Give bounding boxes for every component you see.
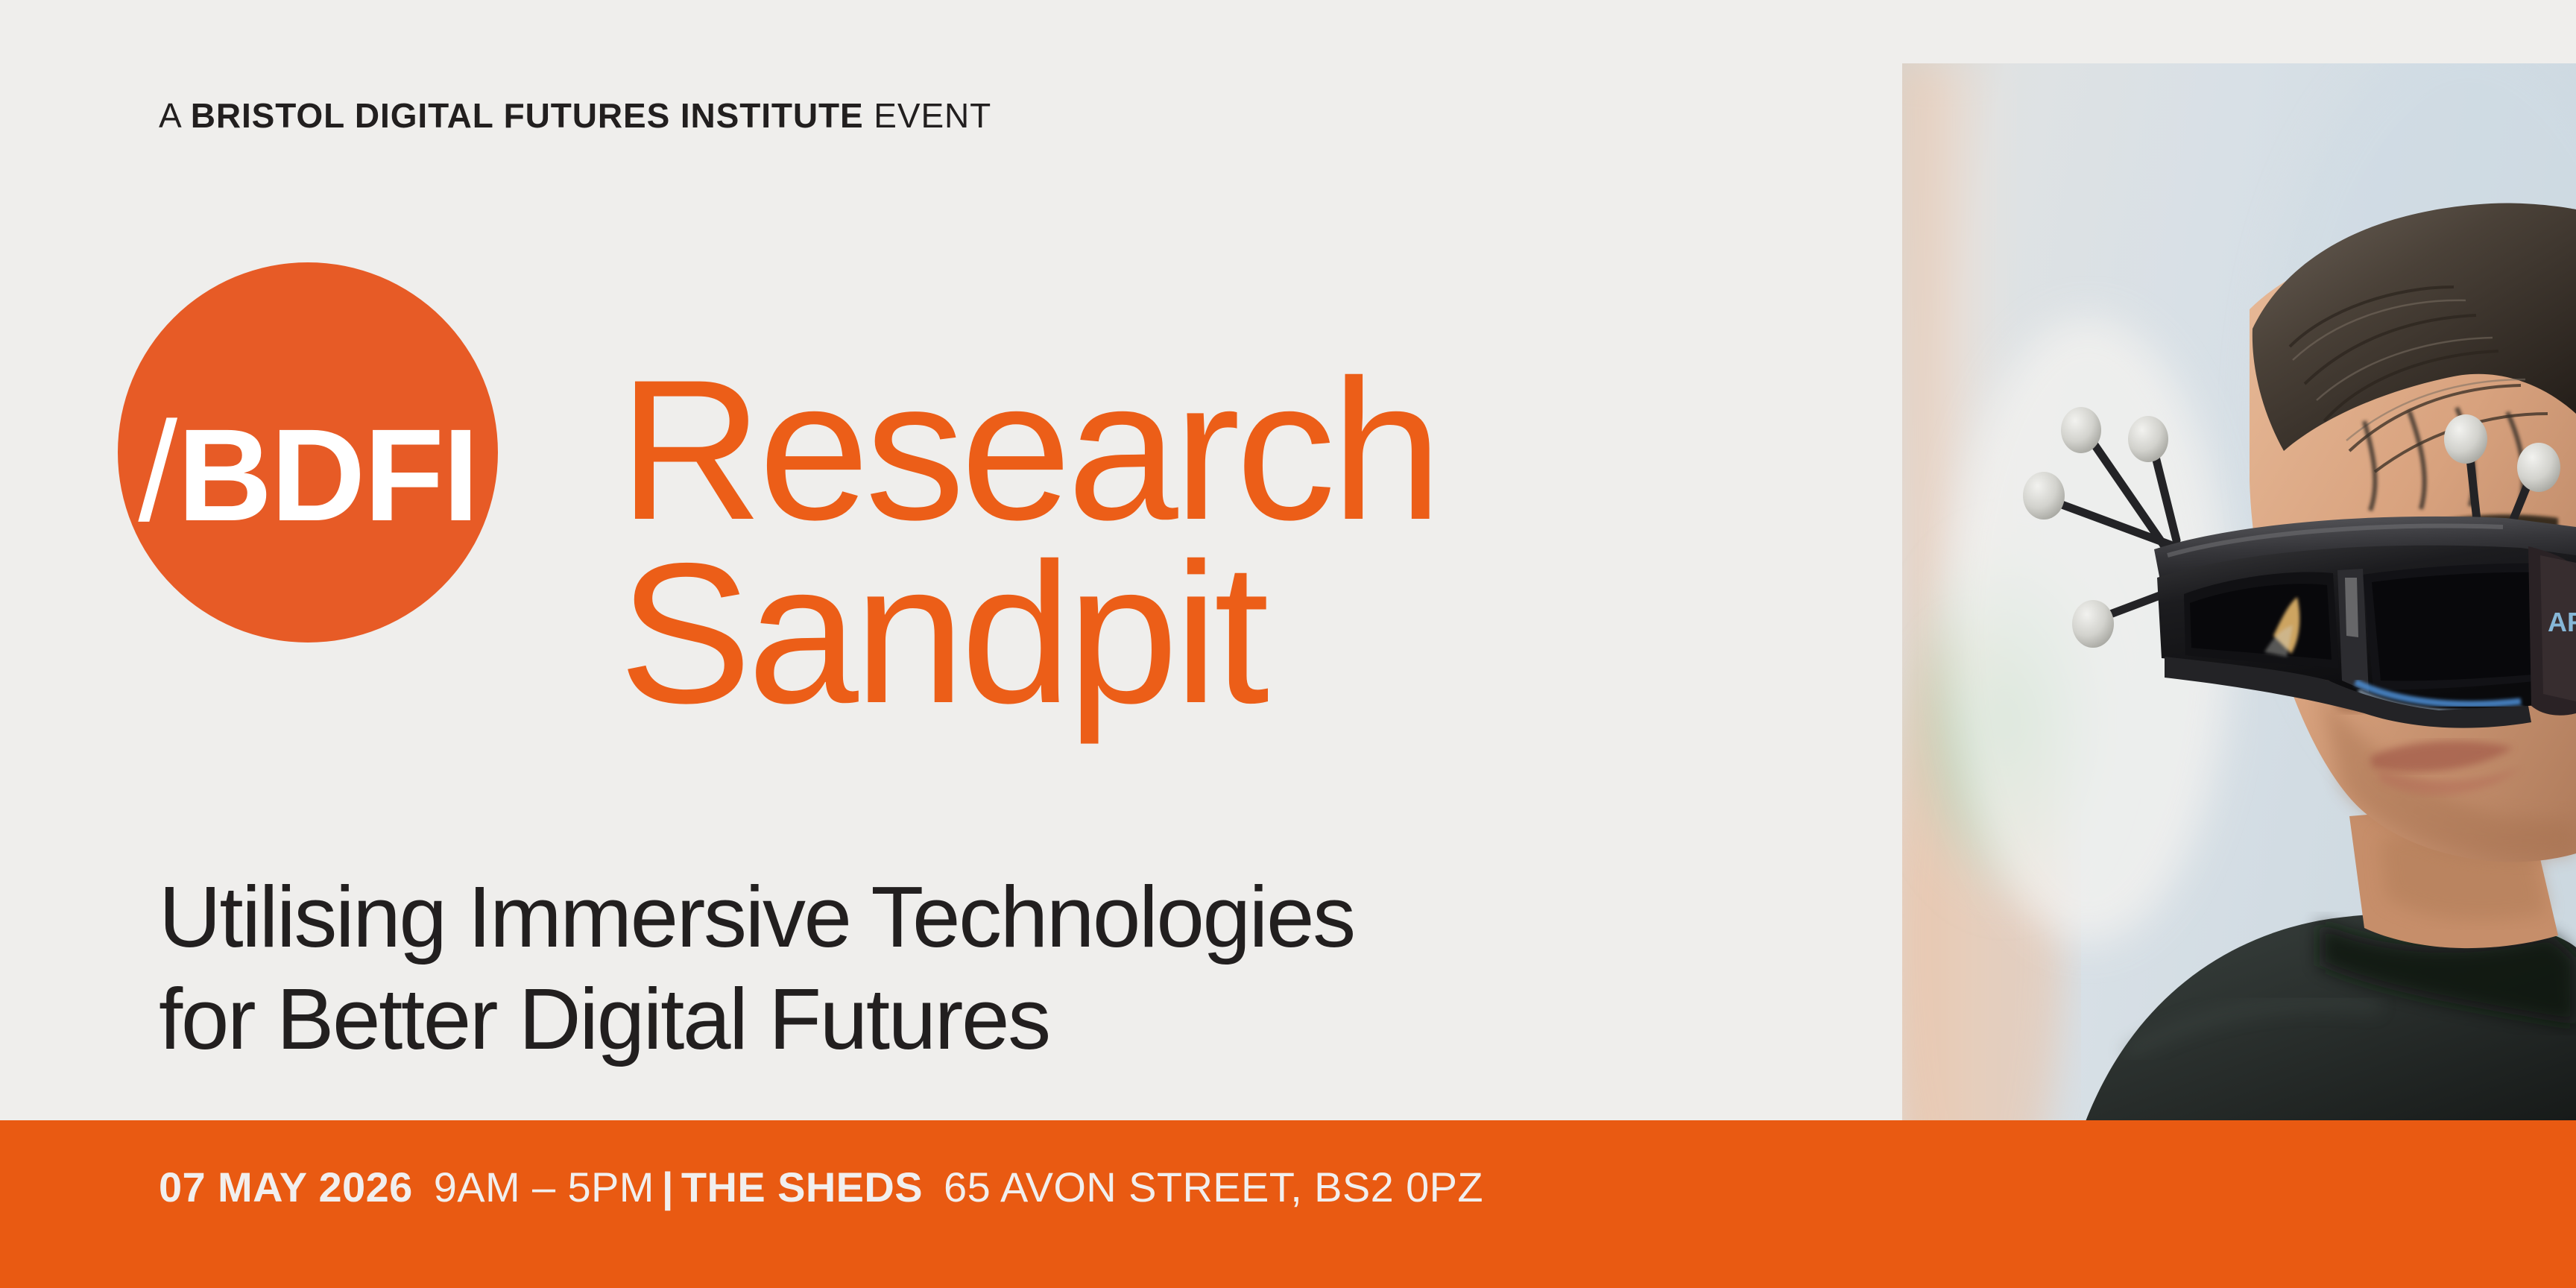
event-date: 07 MAY 2026 xyxy=(159,1164,413,1210)
page-subtitle: Utilising Immersive Technologies for Bet… xyxy=(159,866,1354,1070)
event-address: 65 AVON STREET, BS2 0PZ xyxy=(944,1164,1483,1210)
hero-photo-illustration: AR xyxy=(1902,63,2576,1223)
kicker-lead: A xyxy=(159,96,191,135)
bdfi-logo-lockup: / BDFI xyxy=(138,401,477,543)
photo-device-brand-mark: AR xyxy=(2548,607,2576,637)
bdfi-logo[interactable]: / BDFI xyxy=(118,262,498,643)
event-banner: A BRISTOL DIGITAL FUTURES INSTITUTE EVEN… xyxy=(0,0,2576,1288)
kicker-organisation: BRISTOL DIGITAL FUTURES INSTITUTE xyxy=(191,96,864,135)
page-subtitle-line-2: for Better Digital Futures xyxy=(159,968,1354,1070)
event-time: 9AM – 5PM xyxy=(434,1164,654,1210)
page-subtitle-line-1: Utilising Immersive Technologies xyxy=(159,866,1354,968)
detail-separator: | xyxy=(654,1164,681,1210)
kicker-trail: EVENT xyxy=(864,96,992,135)
bdfi-logo-acronym: BDFI xyxy=(177,410,478,541)
page-title-line-2: Sandpit xyxy=(619,541,1438,725)
hero-photo: AR xyxy=(1902,63,2576,1223)
page-title: Research Sandpit xyxy=(619,358,1438,725)
page-title-line-1: Research xyxy=(619,358,1438,542)
event-details-text: 07 MAY 20269AM – 5PM|THE SHEDS65 AVON ST… xyxy=(159,1163,1483,1211)
event-venue: THE SHEDS xyxy=(681,1164,923,1210)
slash-icon: / xyxy=(138,401,173,543)
event-kicker: A BRISTOL DIGITAL FUTURES INSTITUTE EVEN… xyxy=(159,95,991,136)
